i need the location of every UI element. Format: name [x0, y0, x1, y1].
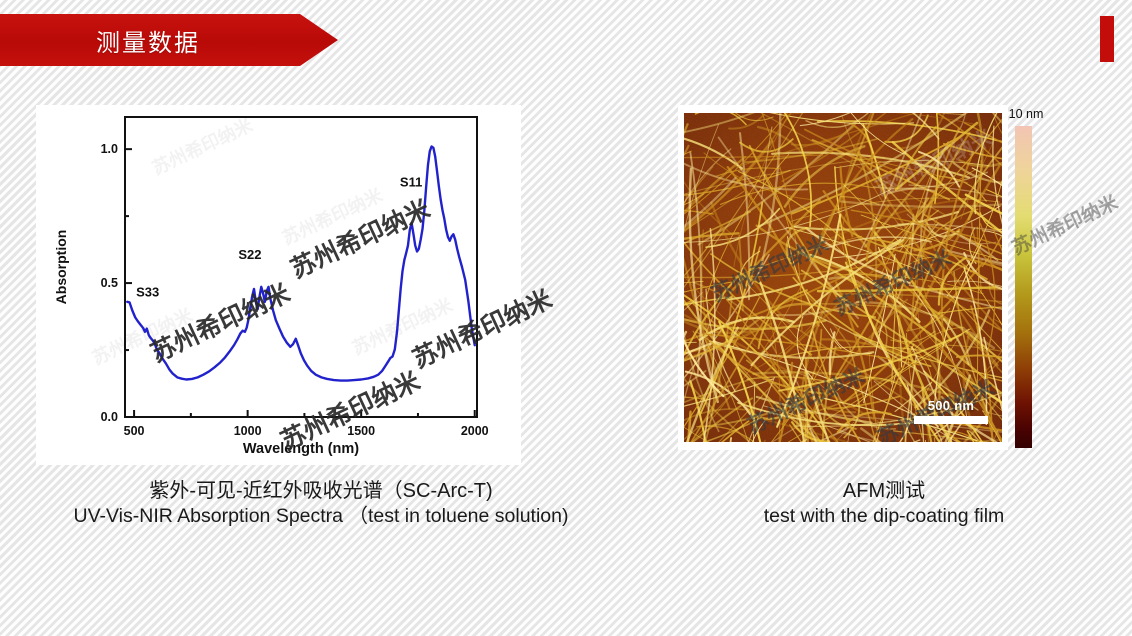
x-axis-title: Wavelength (nm) [243, 441, 359, 457]
svg-text:苏州希印纳米: 苏州希印纳米 [149, 114, 257, 179]
afm-micrograph: 苏州希印纳米 苏州希印纳米 苏州希印纳米 苏州希印纳米 苏州希印纳米 500 n… [684, 113, 1002, 442]
afm-svg [684, 113, 1002, 442]
svg-text:2000: 2000 [461, 424, 489, 438]
svg-text:0.5: 0.5 [101, 276, 118, 290]
colorbar-max-label: 10 nm [1001, 107, 1051, 121]
svg-text:苏州希印纳米: 苏州希印纳米 [349, 294, 457, 359]
afm-color-scale: 10 nm 苏州希印纳米 [1005, 108, 1049, 450]
corner-accent-mark [1100, 16, 1114, 62]
right-caption: AFM测试 test with the dip-coating film [660, 478, 1108, 530]
spectrum-svg: 苏州希印纳米 苏州希印纳米 苏州希印纳米 苏州希印纳米 500100015002… [36, 105, 521, 465]
svg-text:1.0: 1.0 [101, 142, 118, 156]
svg-text:0.0: 0.0 [101, 410, 118, 424]
svg-text:S11: S11 [400, 175, 422, 190]
header-banner: 测量数据 [0, 14, 338, 66]
scale-bar-rule [914, 416, 988, 424]
right-caption-line1: AFM测试 [660, 478, 1108, 504]
svg-text:苏州希印纳米: 苏州希印纳米 [279, 184, 387, 249]
scale-bar-label: 500 nm [914, 398, 988, 413]
left-caption: 紫外-可见-近红外吸收光谱（SC-Arc-T) UV-Vis-NIR Absor… [36, 478, 606, 530]
svg-text:1500: 1500 [347, 424, 375, 438]
svg-text:1000: 1000 [234, 424, 262, 438]
right-caption-line2: test with the dip-coating film [660, 504, 1108, 530]
y-axis-title: Absorption [53, 230, 69, 305]
svg-text:S33: S33 [136, 284, 159, 299]
absorption-plot: 苏州希印纳米 苏州希印纳米 苏州希印纳米 苏州希印纳米 500100015002… [36, 105, 521, 465]
absorption-spectrum-card: 苏州希印纳米 苏州希印纳米 苏州希印纳米 苏州希印纳米 500100015002… [36, 105, 521, 465]
svg-text:苏州希印纳米: 苏州希印纳米 [89, 304, 197, 369]
svg-text:500: 500 [124, 424, 145, 438]
page-title: 测量数据 [96, 23, 200, 58]
left-caption-line2: UV-Vis-NIR Absorption Spectra （test in t… [36, 504, 606, 530]
svg-text:S22: S22 [238, 247, 261, 262]
left-caption-line1: 紫外-可见-近红外吸收光谱（SC-Arc-T) [36, 478, 606, 504]
scale-bar: 500 nm [914, 398, 988, 424]
colorbar-gradient [1015, 126, 1032, 448]
spectrum-curve [127, 146, 474, 380]
afm-image-card: 苏州希印纳米 苏州希印纳米 苏州希印纳米 苏州希印纳米 苏州希印纳米 500 n… [678, 105, 1008, 450]
